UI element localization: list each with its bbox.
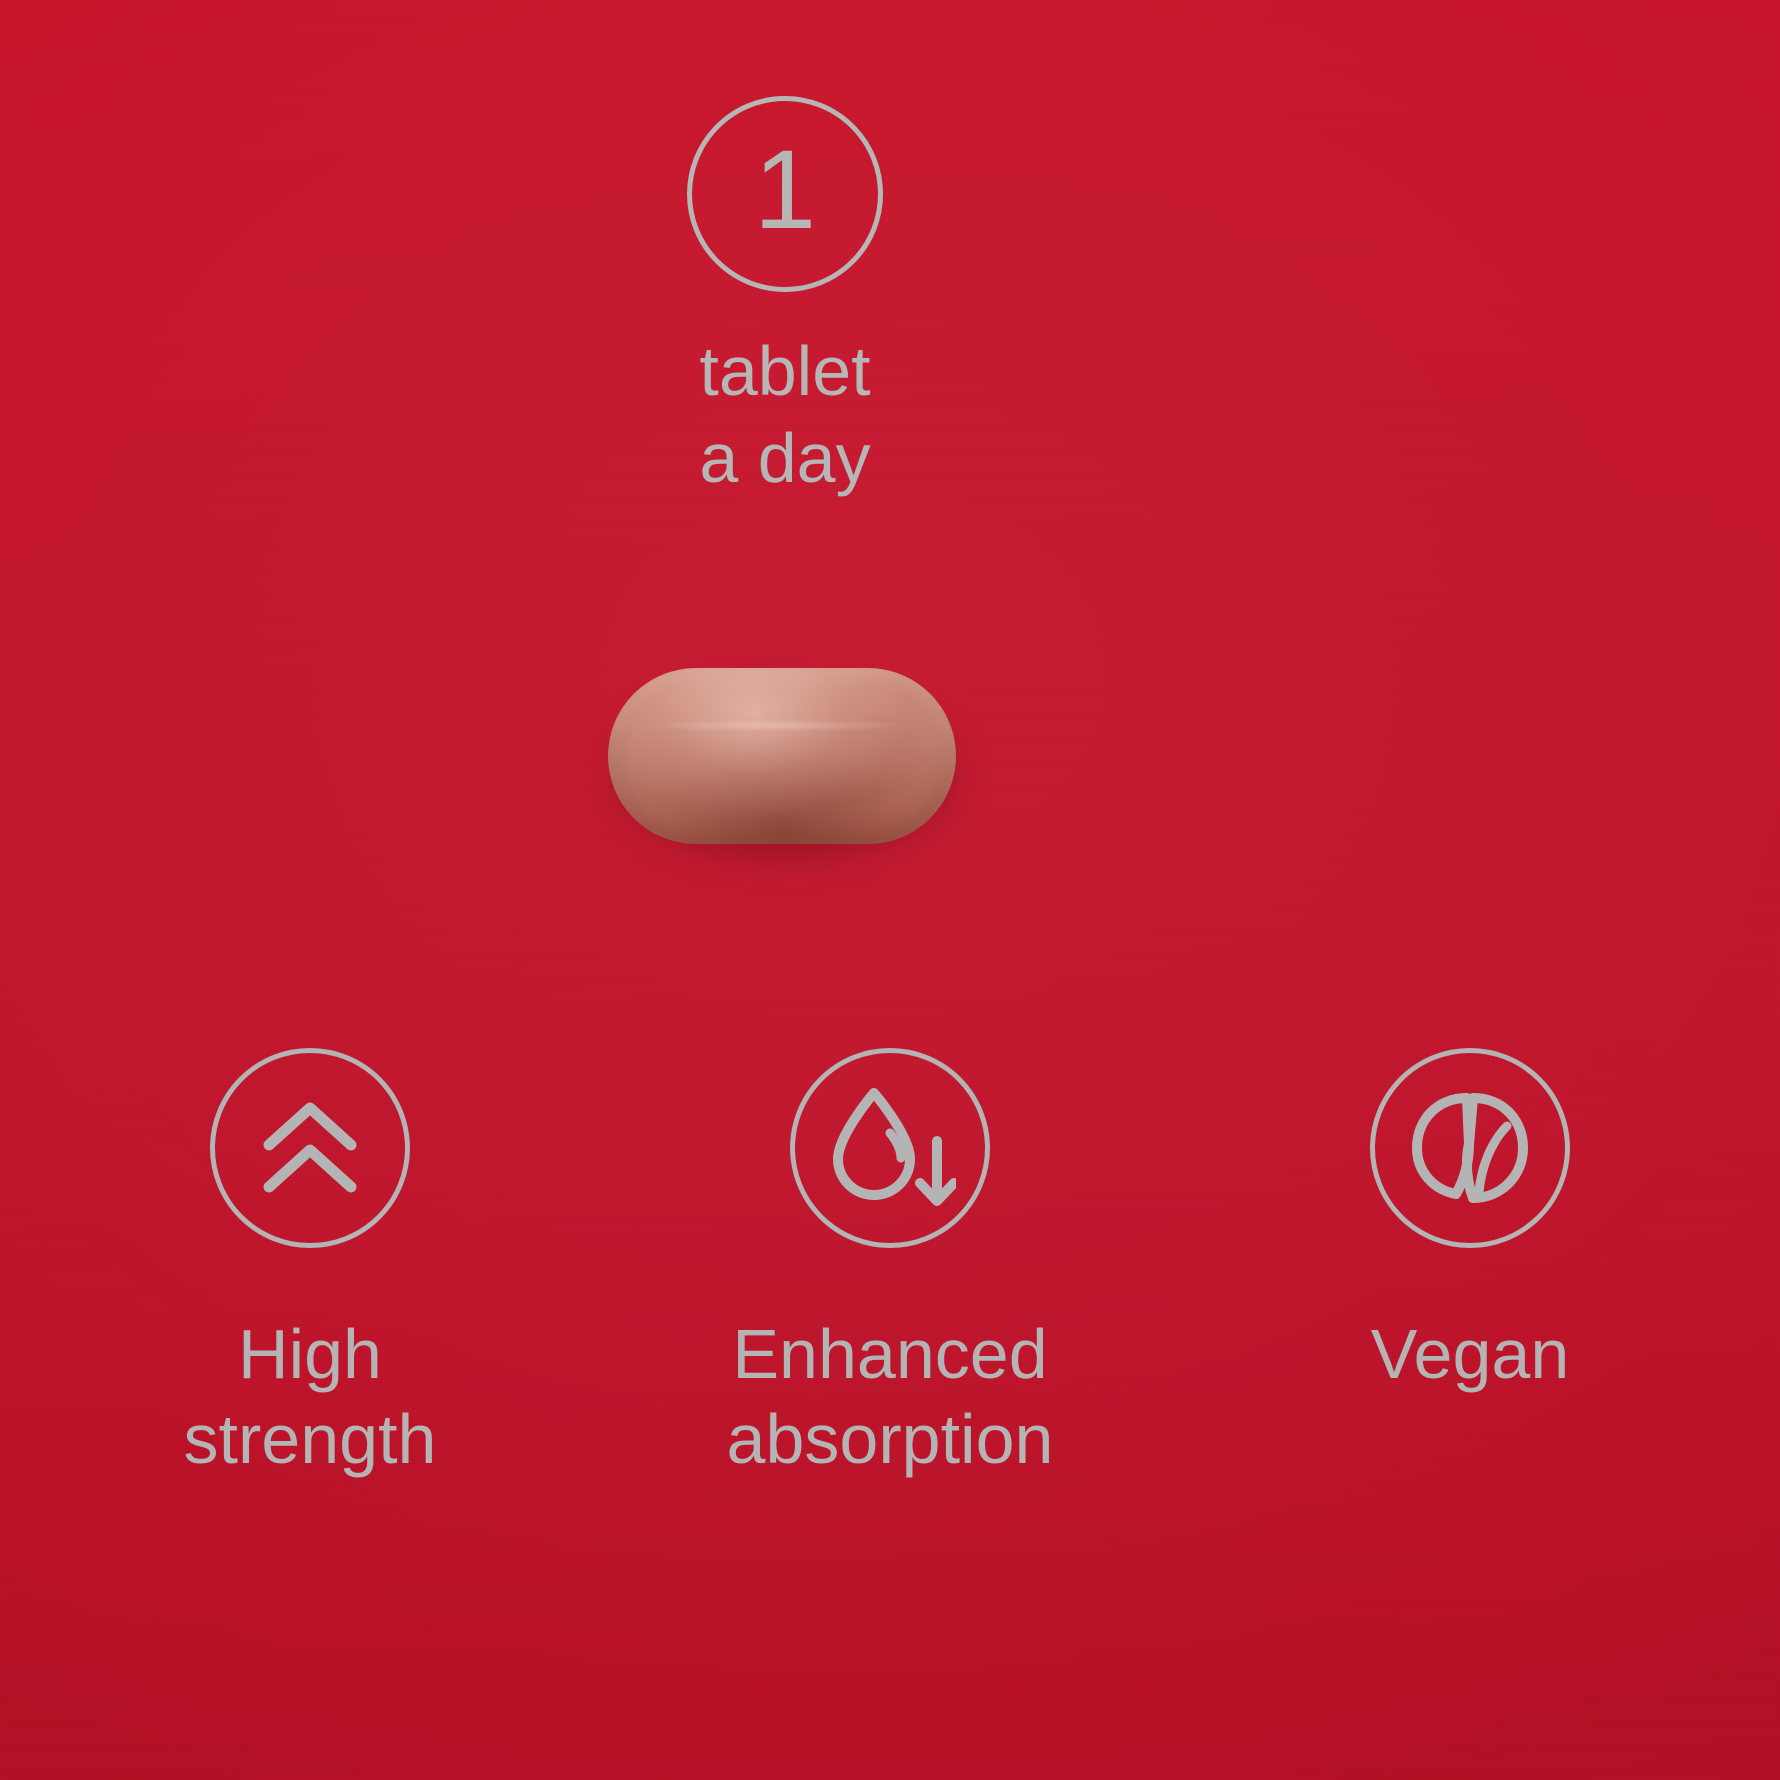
droplet-down-arrow-icon [824, 1083, 956, 1213]
dosage-count-badge: 1 [687, 96, 883, 292]
feature-icon-ring [790, 1048, 990, 1248]
feature-row: High strength Enhanced absorption [60, 1048, 1720, 1483]
dosage-count-value: 1 [754, 134, 816, 246]
dosage-line-1: tablet [0, 328, 1570, 415]
feature-icon-ring [1370, 1048, 1570, 1248]
feature-high-strength: High strength [60, 1048, 560, 1483]
tablet-highlight [639, 723, 924, 728]
tablet-body [608, 668, 956, 844]
feature-icon-ring [210, 1048, 410, 1248]
feature-enhanced-absorption: Enhanced absorption [640, 1048, 1140, 1483]
double-chevron-up-icon [249, 1087, 371, 1209]
dosage-line-2: a day [0, 415, 1570, 502]
product-feature-panel: 1 tablet a day High strength [0, 0, 1780, 1780]
dosage-callout: 1 tablet a day [0, 96, 1570, 502]
tablet-image [608, 668, 956, 844]
feature-label: Enhanced absorption [640, 1312, 1140, 1483]
dosage-text: tablet a day [0, 328, 1570, 502]
feature-label: High strength [60, 1312, 560, 1483]
feature-label: Vegan [1220, 1312, 1720, 1397]
feature-vegan: Vegan [1220, 1048, 1720, 1483]
two-leaves-icon [1407, 1086, 1533, 1210]
